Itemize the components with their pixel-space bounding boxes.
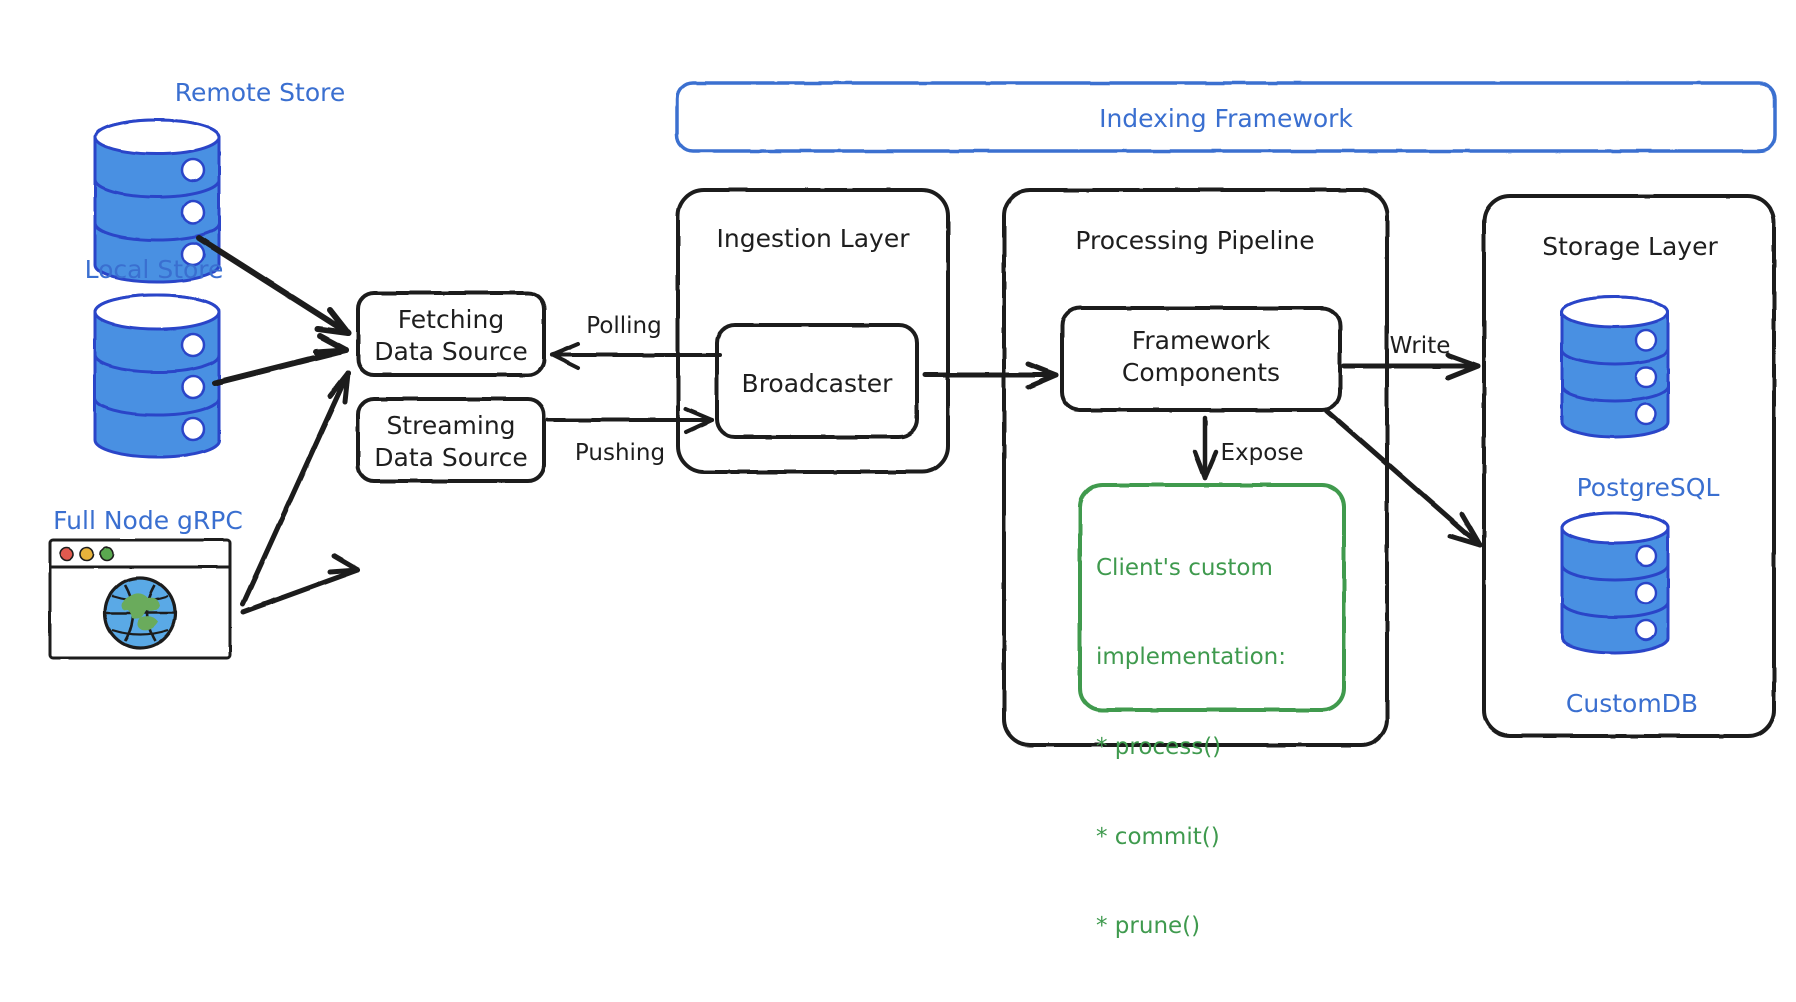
- traffic-light-red-icon: [61, 548, 74, 561]
- diagram-shapes: [0, 0, 1796, 818]
- custom-heading-line1: Client's custom: [1096, 554, 1286, 584]
- custom-method-process: * process(): [1096, 733, 1286, 763]
- diagram-canvas: Remote Store Local Store Full Node gRPC …: [0, 0, 1796, 818]
- broadcaster-box[interactable]: [717, 325, 917, 437]
- postgresql-icon: [1562, 297, 1668, 437]
- indexing-framework-banner: [677, 83, 1775, 151]
- customdb-icon: [1562, 513, 1668, 653]
- local-store-icon: [95, 295, 219, 457]
- client-custom-implementation-text: Client's custom implementation: * proces…: [1096, 494, 1286, 1002]
- globe-icon: [105, 578, 175, 648]
- traffic-light-yellow-icon: [81, 548, 94, 561]
- custom-method-commit: * commit(): [1096, 823, 1286, 853]
- custom-heading-line2: implementation:: [1096, 643, 1286, 673]
- storage-layer-container: [1484, 196, 1774, 736]
- custom-method-prune: * prune(): [1096, 912, 1286, 942]
- streaming-data-source-box[interactable]: [358, 399, 544, 481]
- browser-window-globe-icon: [50, 540, 230, 658]
- fetching-data-source-box[interactable]: [358, 293, 544, 375]
- traffic-light-green-icon: [101, 548, 114, 561]
- remote-store-icon: [95, 120, 219, 282]
- framework-components-box[interactable]: [1062, 308, 1340, 410]
